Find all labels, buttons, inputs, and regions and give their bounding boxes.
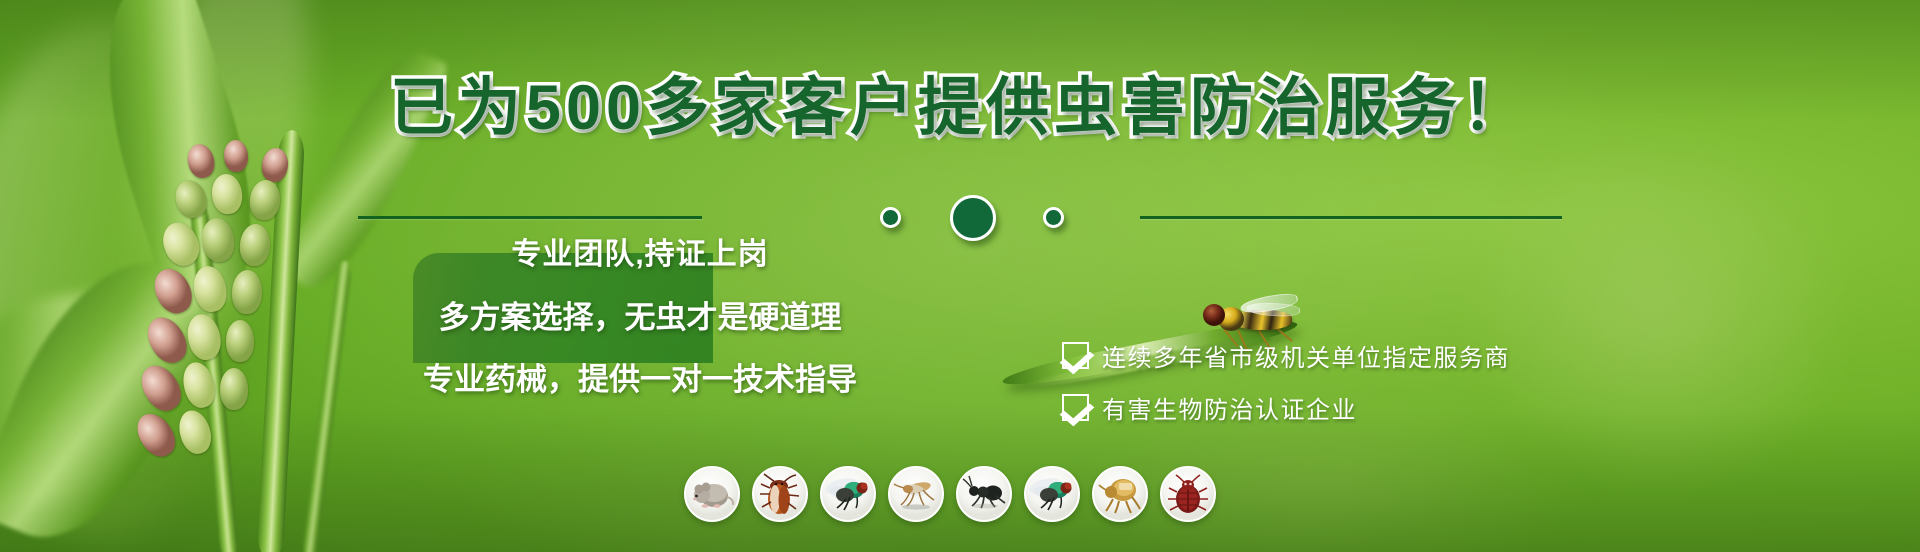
- pest-icon-row: [684, 466, 1216, 522]
- divider-line-right: [1140, 216, 1562, 219]
- feature-text-block: 专业团队,持证上岗 多方案选择，无虫才是硬道理 专业药械，提供一对一技术指导: [340, 210, 940, 399]
- checklist-item-label: 连续多年省市级机关单位指定服务商: [1102, 338, 1510, 373]
- pest-control-banner: 已为500多家客户提供虫害防治服务！ 专业团队,持证上岗 多方案选择，无虫才是硬…: [0, 0, 1920, 552]
- checkbox-checked-icon: [1062, 394, 1089, 421]
- credentials-checklist: 连续多年省市级机关单位指定服务商 有害生物防治认证企业: [1062, 338, 1510, 442]
- banner-headline: 已为500多家客户提供虫害防治服务！: [0, 77, 1920, 140]
- mosquito-icon[interactable]: [888, 466, 944, 522]
- blowfly-icon[interactable]: [820, 466, 876, 522]
- cockroach-icon[interactable]: [752, 466, 808, 522]
- checklist-item: 连续多年省市级机关单位指定服务商: [1062, 338, 1510, 373]
- checklist-item: 有害生物防治认证企业: [1062, 390, 1510, 425]
- bedbug-icon[interactable]: [1160, 466, 1216, 522]
- ant-icon[interactable]: [956, 466, 1012, 522]
- housefly-icon[interactable]: [1024, 466, 1080, 522]
- divider-dot-large: [950, 195, 996, 241]
- decorative-divider: [0, 196, 1920, 238]
- rat-icon[interactable]: [684, 466, 740, 522]
- checklist-item-label: 有害生物防治认证企业: [1102, 390, 1357, 425]
- feature-line-3: 专业药械，提供一对一技术指导: [340, 337, 940, 399]
- feature-line-1: 专业团队,持证上岗: [340, 210, 940, 273]
- checkbox-checked-icon: [1062, 342, 1089, 369]
- divider-dot-small: [1043, 207, 1064, 228]
- feature-line-2: 多方案选择，无虫才是硬道理: [340, 273, 940, 337]
- flea-icon[interactable]: [1092, 466, 1148, 522]
